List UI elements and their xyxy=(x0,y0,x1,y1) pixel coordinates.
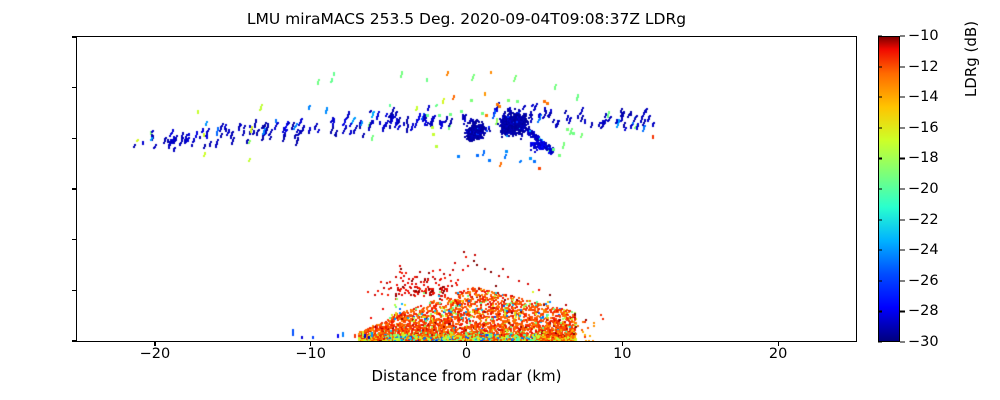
colorbar-tick-label: −12 xyxy=(908,59,939,75)
colorbar-tick-mark-inner xyxy=(878,342,882,343)
colorbar-label: LDRg (dB) xyxy=(962,0,980,189)
colorbar-tick-mark-inner xyxy=(878,158,882,159)
colorbar-tick-label: −24 xyxy=(908,242,939,258)
colorbar-tick-mark xyxy=(900,97,905,98)
colorbar-tick-label: −30 xyxy=(908,334,939,350)
colorbar-tick-mark-inner xyxy=(878,250,882,251)
colorbar-tick-label: −14 xyxy=(908,89,939,105)
colorbar-tick-label: −18 xyxy=(908,150,939,166)
x-tick-label: 20 xyxy=(748,346,808,362)
colorbar-tick-label: −28 xyxy=(908,303,939,319)
radar-ldrg-figure: LMU miraMACS 253.5 Deg. 2020-09-04T09:08… xyxy=(0,0,1000,400)
colorbar-tick-mark xyxy=(900,127,905,128)
colorbar-tick-mark-inner xyxy=(878,97,882,98)
colorbar-tick-mark xyxy=(900,219,905,220)
colorbar-tick-label: −22 xyxy=(908,212,939,228)
page-title: LMU miraMACS 253.5 Deg. 2020-09-04T09:08… xyxy=(76,10,857,28)
colorbar-tick-mark-inner xyxy=(878,189,882,190)
x-tick-label: 10 xyxy=(592,346,652,362)
colorbar-tick-mark xyxy=(900,158,905,159)
colorbar-tick-mark xyxy=(900,250,905,251)
x-tick-label: −10 xyxy=(281,346,341,362)
colorbar-tick-mark-inner xyxy=(878,311,882,312)
colorbar-tick-mark xyxy=(900,189,905,190)
colorbar-tick-mark-inner xyxy=(878,127,882,128)
x-tick-label: 0 xyxy=(437,346,497,362)
colorbar-tick-mark-inner xyxy=(878,66,882,67)
colorbar-tick-mark xyxy=(900,280,905,281)
y-axis-label: Distance Above radar (km) xyxy=(0,0,4,189)
colorbar-tick-mark xyxy=(900,66,905,67)
x-axis-label: Distance from radar (km) xyxy=(76,367,857,385)
colorbar-tick-mark xyxy=(900,36,905,37)
plot-area[interactable] xyxy=(76,36,857,342)
colorbar[interactable]: −10−12−14−16−18−20−22−24−26−28−30 xyxy=(878,36,900,342)
colorbar-tick-label: −26 xyxy=(908,273,939,289)
colorbar-tick-label: −16 xyxy=(908,120,939,136)
scatter-data-layer xyxy=(77,37,856,341)
colorbar-tick-mark-inner xyxy=(878,219,882,220)
colorbar-tick-label: −20 xyxy=(908,181,939,197)
x-tick-label: −20 xyxy=(125,346,185,362)
colorbar-tick-mark xyxy=(900,342,905,343)
colorbar-tick-mark-inner xyxy=(878,280,882,281)
colorbar-tick-mark-inner xyxy=(878,36,882,37)
colorbar-tick-mark xyxy=(900,311,905,312)
colorbar-tick-label: −10 xyxy=(908,28,939,44)
